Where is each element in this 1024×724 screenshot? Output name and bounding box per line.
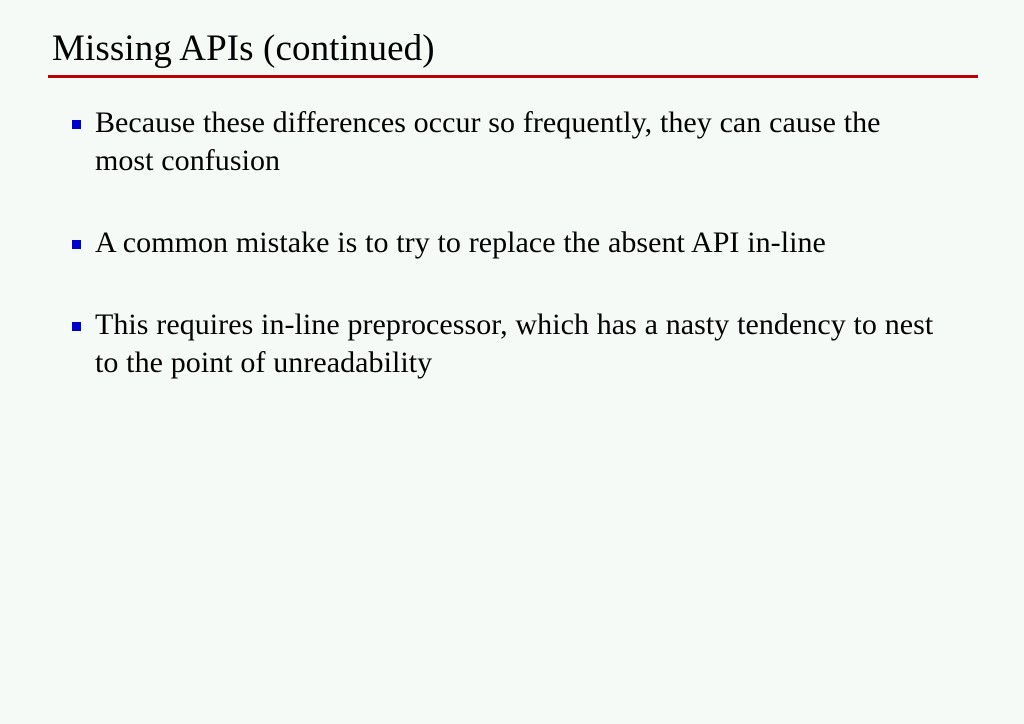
slide-canvas: Missing APIs (continued) Because these d… <box>0 0 1024 724</box>
list-item-label: This requires in-line preprocessor, whic… <box>95 306 963 382</box>
square-bullet-icon <box>72 120 81 129</box>
page-title: Missing APIs (continued) <box>48 26 980 72</box>
title-underline-rule <box>48 75 978 78</box>
square-bullet-icon <box>72 240 81 249</box>
square-bullet-icon <box>72 322 81 331</box>
list-item: A common mistake is to try to replace th… <box>66 224 986 262</box>
slide-body-bullet-list: Because these differences occur so frequ… <box>66 104 986 382</box>
list-item-label: A common mistake is to try to replace th… <box>95 224 933 262</box>
list-item: Because these differences occur so frequ… <box>66 104 986 180</box>
slide-title-block: Missing APIs (continued) <box>48 26 980 72</box>
list-item: This requires in-line preprocessor, whic… <box>66 306 986 382</box>
list-item-label: Because these differences occur so frequ… <box>95 104 895 180</box>
